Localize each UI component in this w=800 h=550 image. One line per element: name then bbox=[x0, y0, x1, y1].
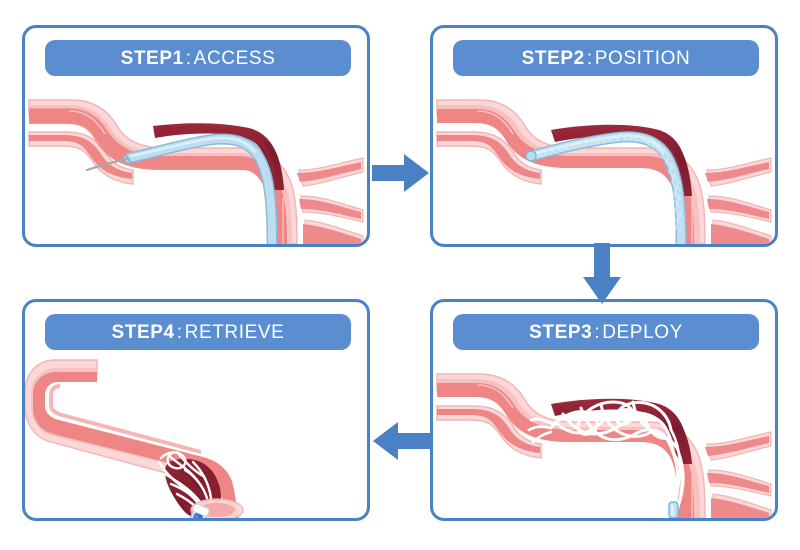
step-separator-step4: : bbox=[175, 322, 185, 343]
step-label-step4: RETRIEVE bbox=[185, 322, 285, 343]
step-banner-step1: STEP1:ACCESS bbox=[45, 40, 351, 76]
step4-illustration bbox=[25, 352, 367, 518]
step2-illustration bbox=[433, 78, 775, 244]
step1-illustration bbox=[25, 78, 367, 244]
step-banner-step2: STEP2:POSITION bbox=[453, 40, 759, 76]
arrow-right-icon-step1-to-step2 bbox=[372, 152, 430, 194]
procedure-diagram: STEP1:ACCESS bbox=[0, 0, 800, 550]
step-label-step1: ACCESS bbox=[194, 48, 276, 69]
step-number-step2: STEP2 bbox=[522, 48, 585, 69]
step-banner-step4: STEP4:RETRIEVE bbox=[45, 314, 351, 350]
step-label-step3: DEPLOY bbox=[602, 322, 683, 343]
step-separator-step3: : bbox=[592, 322, 602, 343]
arrow-left-icon-step3-to-step4 bbox=[372, 420, 430, 462]
step-separator-step1: : bbox=[184, 48, 194, 69]
step-number-step4: STEP4 bbox=[112, 322, 175, 343]
step-banner-text-step1: STEP1:ACCESS bbox=[121, 49, 276, 68]
step-label-step2: POSITION bbox=[595, 48, 691, 69]
step-banner-step3: STEP3:DEPLOY bbox=[453, 314, 759, 350]
step-panel-step3[interactable]: STEP3:DEPLOY bbox=[430, 299, 778, 521]
step3-illustration bbox=[433, 352, 775, 518]
step-number-step3: STEP3 bbox=[529, 322, 592, 343]
step-banner-text-step2: STEP2:POSITION bbox=[522, 49, 691, 68]
step-number-step1: STEP1 bbox=[121, 48, 184, 69]
step-panel-step4[interactable]: STEP4:RETRIEVE bbox=[22, 299, 370, 521]
step-panel-step1[interactable]: STEP1:ACCESS bbox=[22, 25, 370, 247]
step-banner-text-step3: STEP3:DEPLOY bbox=[529, 323, 683, 342]
step-banner-text-step4: STEP4:RETRIEVE bbox=[112, 323, 285, 342]
step-panel-step2[interactable]: STEP2:POSITION bbox=[430, 25, 778, 247]
arrow-down-icon-step2-to-step3 bbox=[581, 243, 623, 305]
step-separator-step2: : bbox=[585, 48, 595, 69]
